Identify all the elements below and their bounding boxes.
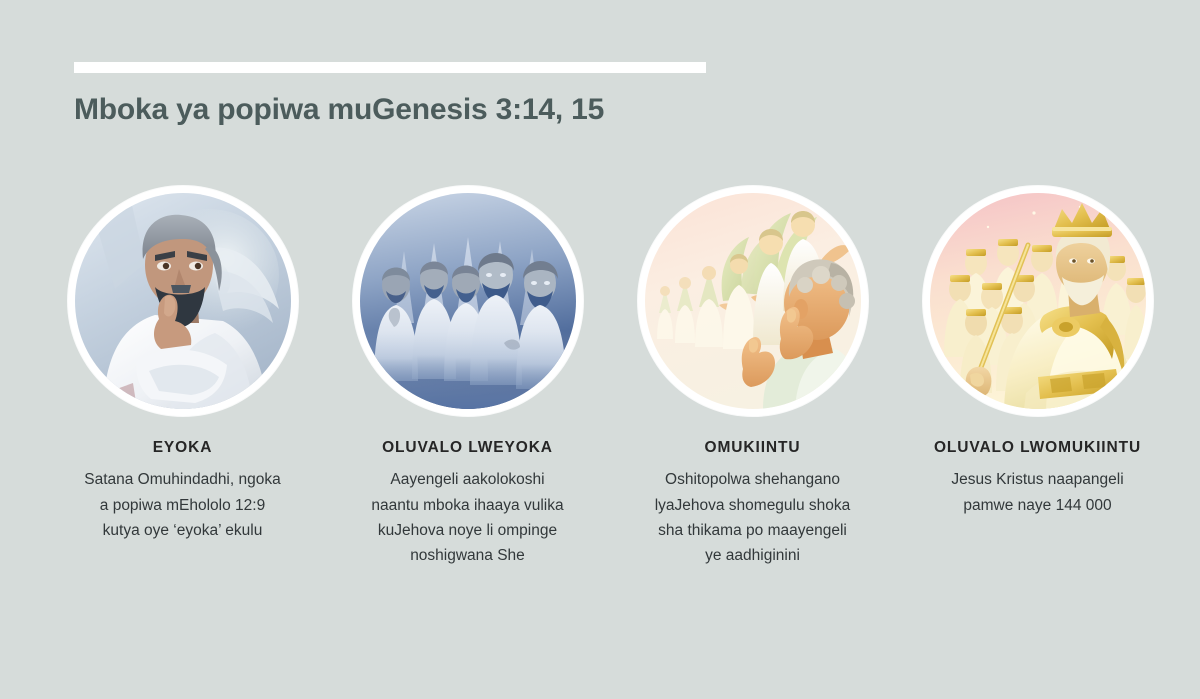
caption-line: Oshitopolwa shehangano [618, 467, 888, 492]
caption-line: sha thikama po maayengeli [618, 518, 888, 543]
caption-body-3: Oshitopolwa shehangano lyaJehova shomegu… [618, 467, 888, 567]
caption-heading-4: OLUVALO LWOMUKIINTU [903, 438, 1173, 458]
caption-line: noshigwana She [333, 543, 603, 568]
caption-body-1: Satana Omuhindadhi, ngoka a popiwa mEhol… [48, 467, 318, 542]
caption-line: ye aadhiginini [618, 543, 888, 568]
man-reaching-toward-winged-angels-icon [645, 193, 861, 409]
circle-frame-4 [923, 186, 1153, 416]
caption-heading-line: OLUVALO [382, 439, 463, 456]
caption-heading-3: OMUKIINTU [618, 438, 888, 458]
caption-heading-line: LWOMUKIINTU [1020, 439, 1141, 456]
caption-1: EYOKA Satana Omuhindadhi, ngoka a popiwa… [48, 438, 318, 543]
caption-line: kutya oye ‘eyoka’ ekulu [48, 518, 318, 543]
card-omukiintu: OMUKIINTU Oshitopolwa shehangano lyaJeho… [610, 186, 895, 568]
caption-body-4: Jesus Kristus naapangeli pamwe naye 144 … [903, 467, 1173, 517]
caption-line: a popiwa mEhololo 12:9 [48, 493, 318, 518]
circle-frame-3 [638, 186, 868, 416]
caption-3: OMUKIINTU Oshitopolwa shehangano lyaJeho… [618, 438, 888, 568]
circle-frame-1 [68, 186, 298, 416]
circle-frame-2 [353, 186, 583, 416]
caption-heading-line: LWEYOKA [468, 439, 553, 456]
caption-line: lyaJehova shomegulu shoka [618, 493, 888, 518]
caption-line: kuJehova noye li ompinge [333, 518, 603, 543]
caption-line: Satana Omuhindadhi, ngoka [48, 467, 318, 492]
caption-heading-2: OLUVALO LWEYOKA [333, 438, 603, 458]
caption-heading-line: OLUVALO [934, 439, 1015, 456]
caption-body-2: Aayengeli aakolokoshi naantu mboka ihaay… [333, 467, 603, 567]
jesus-christ-king-with-crowned-rulers-icon [930, 193, 1146, 409]
header-accent-rule [74, 62, 706, 73]
satan-scheming-angel-portrait-icon [75, 193, 291, 409]
caption-line: naantu mboka ihaaya vulika [333, 493, 603, 518]
caption-line: Jesus Kristus naapangeli [903, 467, 1173, 492]
cards-row: EYOKA Satana Omuhindadhi, ngoka a popiwa… [0, 186, 1200, 568]
page-title: Mboka ya popiwa muGenesis 3:14, 15 [74, 93, 604, 127]
card-eyoka: EYOKA Satana Omuhindadhi, ngoka a popiwa… [40, 186, 325, 568]
caption-line: Aayengeli aakolokoshi [333, 467, 603, 492]
caption-heading-1: EYOKA [48, 438, 318, 458]
card-oluvalo-lwomukiintu: OLUVALO LWOMUKIINTU Jesus Kristus naapan… [895, 186, 1180, 568]
caption-2: OLUVALO LWEYOKA Aayengeli aakolokoshi na… [333, 438, 603, 568]
card-oluvalo-lweyoka: OLUVALO LWEYOKA Aayengeli aakolokoshi na… [325, 186, 610, 568]
group-of-demons-in-robes-icon [360, 193, 576, 409]
caption-4: OLUVALO LWOMUKIINTU Jesus Kristus naapan… [903, 438, 1173, 518]
caption-line: pamwe naye 144 000 [903, 493, 1173, 518]
